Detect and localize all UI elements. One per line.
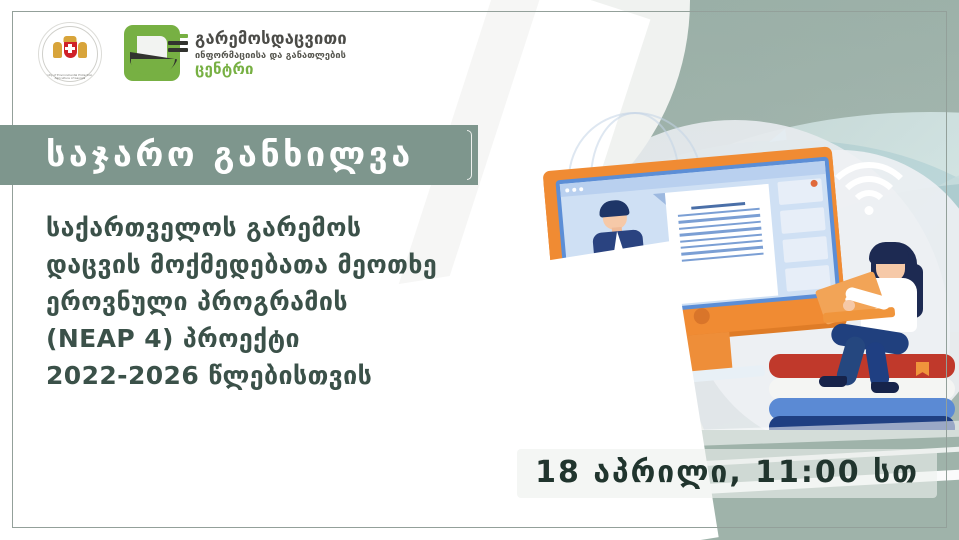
poster-canvas: Ministry of Environmental Protection and… [0, 0, 959, 540]
header-logos: Ministry of Environmental Protection and… [38, 22, 347, 86]
body-line: დაცვის მოქმედებათა მეოთხე [46, 251, 466, 279]
woman-with-laptop [803, 236, 953, 396]
headline-banner: საჯარო განხილვა [0, 125, 478, 185]
org-logo-text: გარემოსდაცვითი ინფორმაციისა და განათლები… [195, 31, 347, 77]
document-page [665, 184, 778, 305]
org-name-line-1: გარემოსდაცვითი [195, 31, 347, 48]
org-name-line-2: ინფორმაციისა და განათლების [195, 51, 347, 60]
crown-icon [64, 36, 77, 42]
org-name-line-3: ცენტრი [195, 62, 347, 77]
logo-bars [168, 34, 188, 60]
woman-shoe-left [819, 376, 847, 387]
body-line: 2022-2026 წლებისთვის [46, 362, 466, 390]
shield-icon [64, 41, 77, 58]
event-datetime: 18 აპრილი, 11:00 სთ [517, 449, 937, 498]
woman-hand [843, 300, 855, 311]
lion-supporter-left-icon [53, 42, 62, 58]
body-line: ეროვნული პროგრამის [46, 288, 466, 316]
lion-supporter-right-icon [78, 42, 87, 58]
body-line: საქართველოს გარემოს [46, 214, 466, 242]
banner-edge-accent [467, 130, 472, 180]
body-line: (NEAP 4) პროექტი [46, 325, 466, 353]
emblem-caption: Ministry of Environmental Protection and… [39, 74, 101, 80]
body-text-block: საქართველოს გარემოს დაცვის მოქმედებათა მ… [46, 214, 466, 390]
event-datetime-text: 18 აპრილი, 11:00 სთ [535, 455, 919, 490]
org-logo: გარემოსდაცვითი ინფორმაციისა და განათლები… [124, 25, 347, 83]
headline-title: საჯარო განხილვა [46, 135, 414, 175]
paper-plane-icon [767, 129, 786, 142]
coat-of-arms-of-georgia-icon: Ministry of Environmental Protection and… [38, 22, 102, 86]
woman-hair-front [869, 242, 909, 264]
emblem-inner [50, 34, 90, 74]
presenter-hair [598, 199, 629, 218]
org-logo-mark [124, 25, 186, 83]
woman-shoe-right [871, 382, 899, 393]
